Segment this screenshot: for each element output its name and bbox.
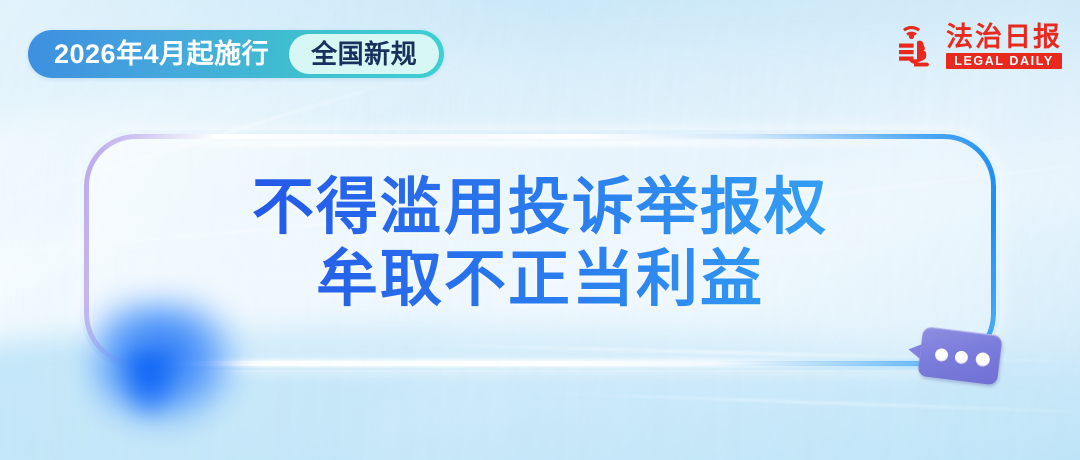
blue-glow-accent-core [118, 352, 180, 418]
hand-book-signal-icon [896, 22, 940, 70]
badge-effective-label: 2026年4月起施行 [28, 30, 289, 78]
badge-category-pill: 全国新规 [289, 34, 439, 74]
publisher-logo: 法治日报 LEGAL DAILY [896, 22, 1062, 70]
badge-category-label: 全国新规 [311, 34, 417, 74]
logo-text-block: 法治日报 LEGAL DAILY [946, 23, 1062, 69]
news-banner-graphic: 2026年4月起施行 全国新规 法治日报 LEGA [0, 0, 1080, 460]
effective-date-badge: 2026年4月起施行 全国新规 [28, 30, 444, 78]
logo-en-band: LEGAL DAILY [946, 53, 1062, 69]
logo-name-cn: 法治日报 [946, 23, 1062, 51]
typing-indicator-bubble-icon [905, 325, 1003, 388]
logo-name-en: LEGAL DAILY [950, 54, 1058, 68]
frame-top-highlight [90, 140, 990, 146]
background-streak-5 [520, 391, 1080, 415]
